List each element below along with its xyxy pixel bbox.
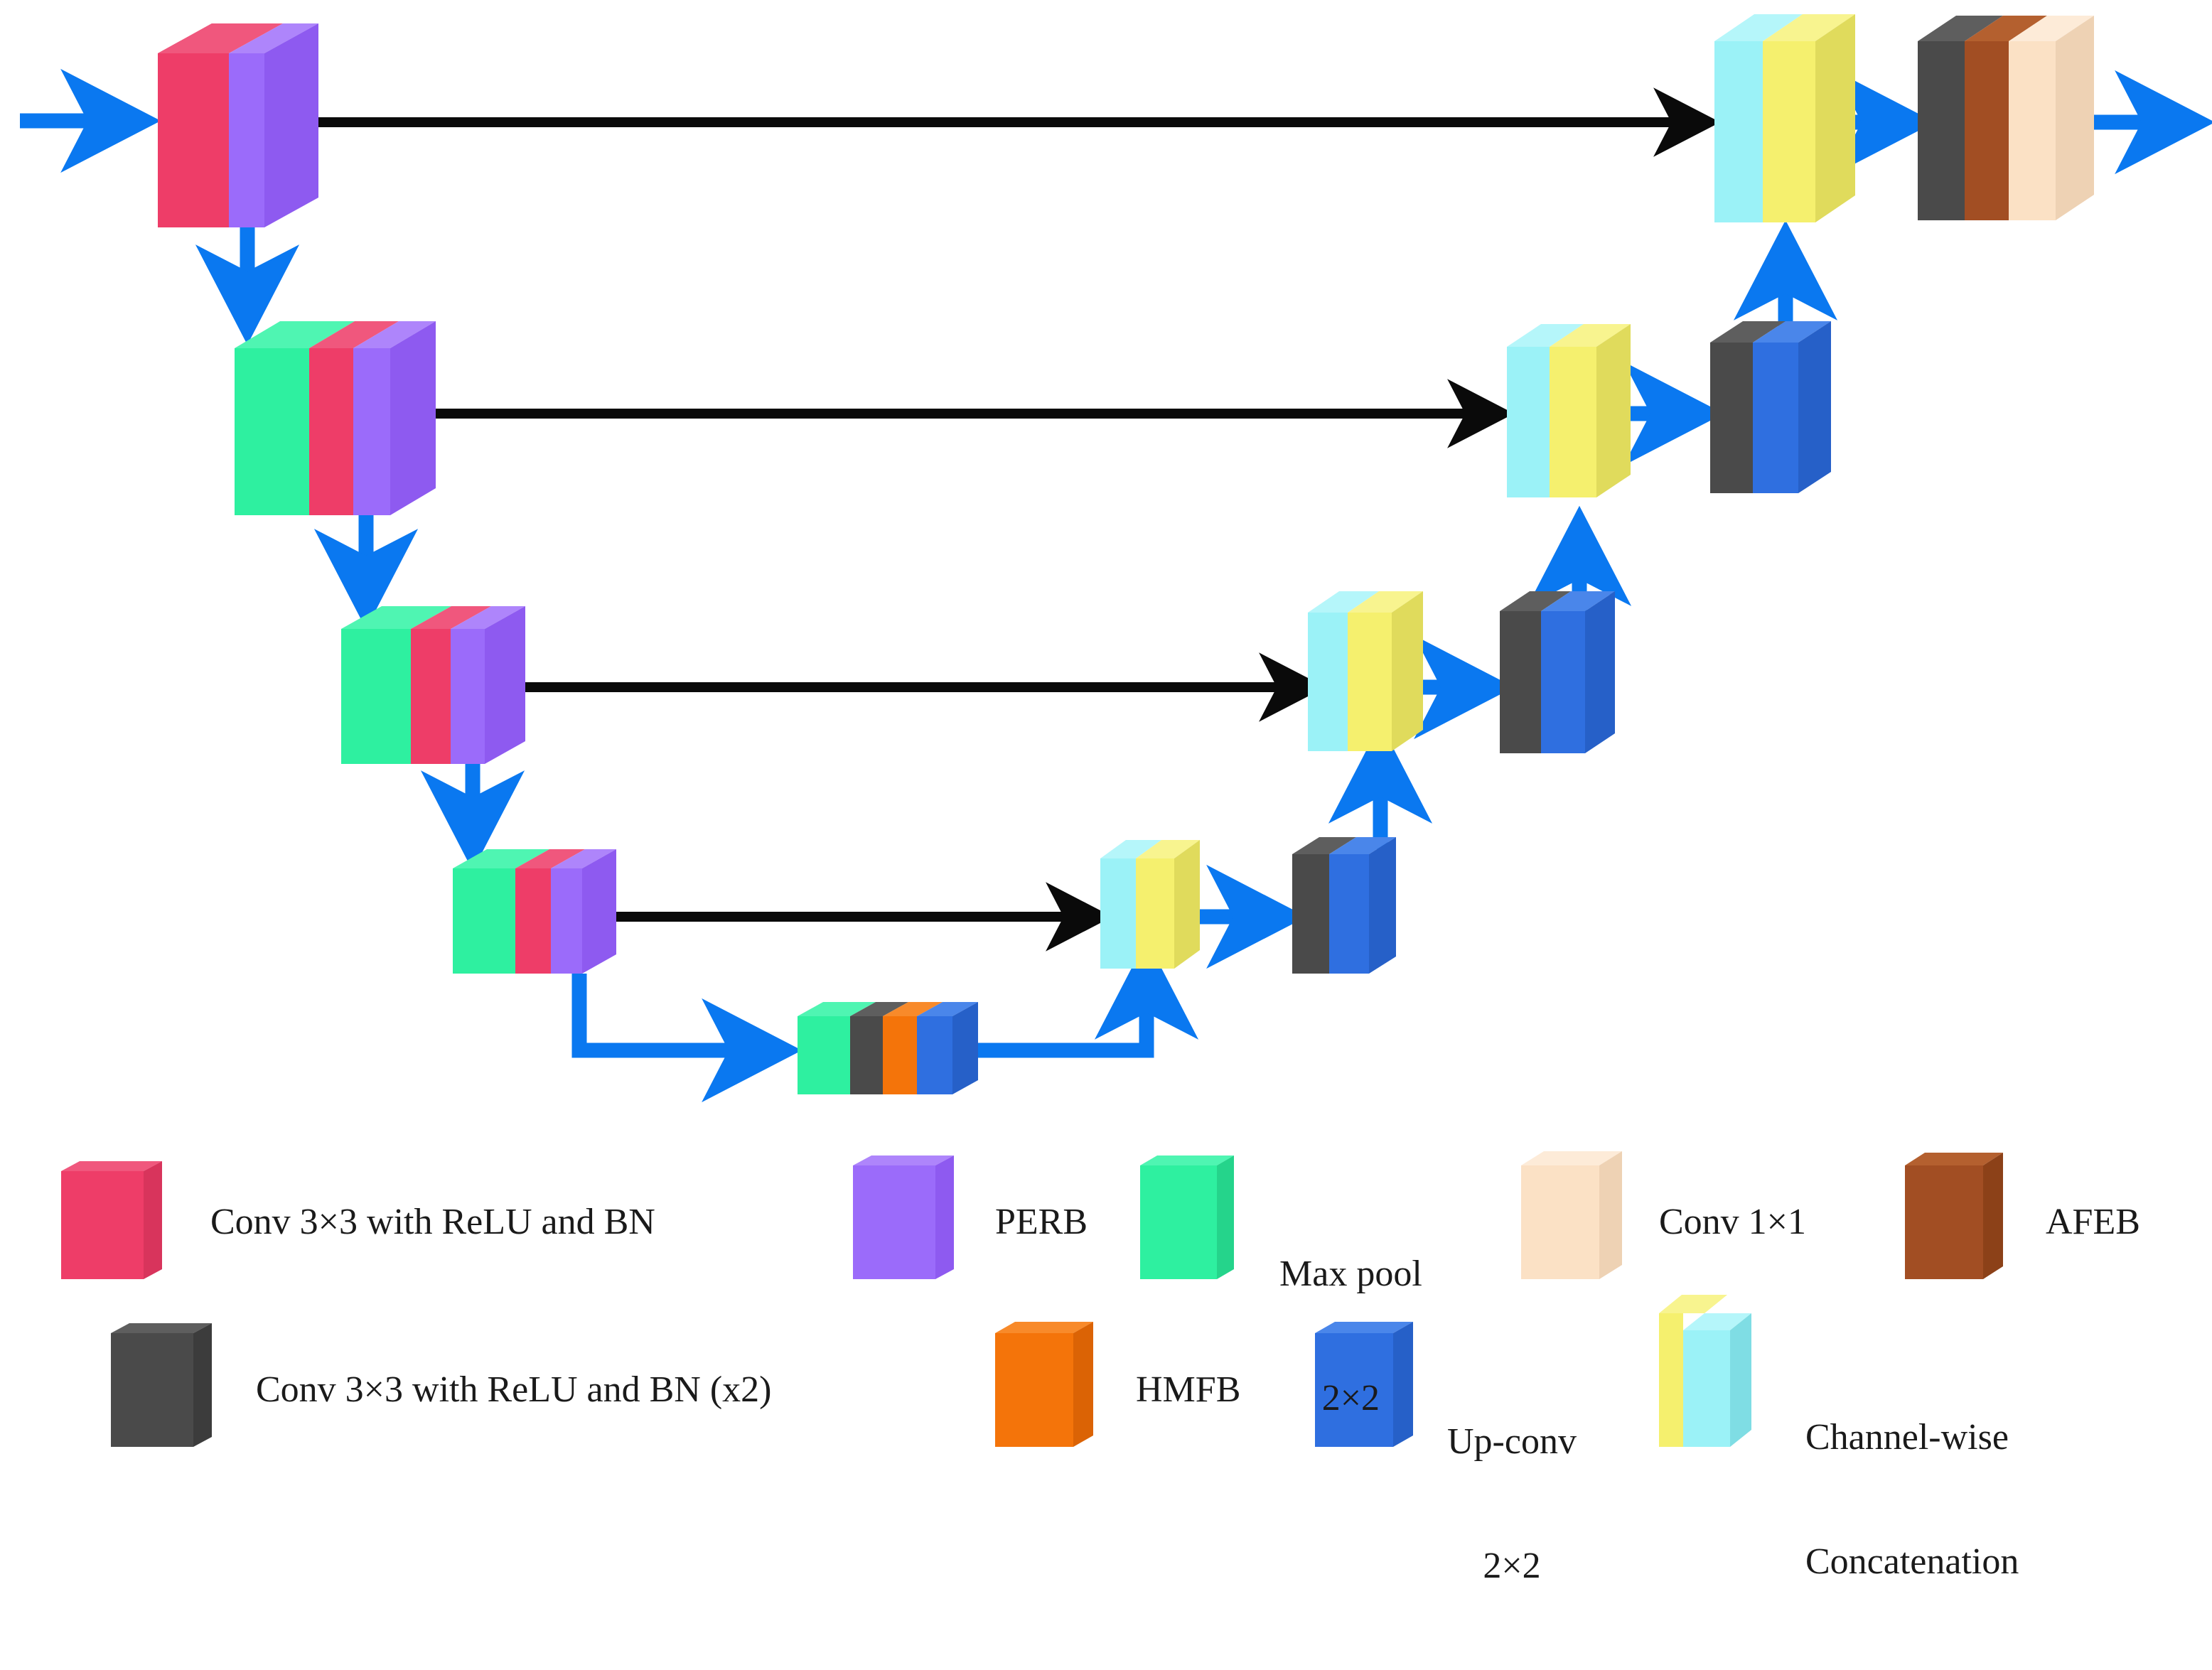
concat-level-1: [1714, 14, 1855, 222]
legend-swatch-perb-purple: [853, 1155, 954, 1279]
encoder-level-2: [235, 321, 436, 515]
legend-label-upconv-line2: 2×2: [1447, 1546, 1577, 1587]
encoder-level-1: [158, 23, 318, 227]
legend-label-upconv-line1: Up-conv: [1447, 1421, 1577, 1462]
decoder-level-2: [1710, 321, 1831, 493]
legend-swatch-hmfb-orange: [995, 1322, 1093, 1447]
encoder-level-3: [341, 606, 525, 764]
legend-label-concat: Channel-wise Concatenation: [1805, 1335, 2019, 1666]
encoder-level-4: [453, 849, 616, 974]
diagram-canvas: Conv 3×3 with ReLU and BN PERB Max pool …: [0, 0, 2212, 1448]
legend-label-conv-pink: Conv 3×3 with ReLU and BN: [210, 1202, 655, 1242]
legend-label-hmfb: HMFB: [1136, 1370, 1240, 1410]
legend-label-maxpool-line1: Max pool: [1279, 1254, 1422, 1295]
legend-swatch-afeb-brown: [1905, 1153, 2003, 1279]
legend-label-afeb: AFEB: [2046, 1202, 2140, 1242]
legend-label-concat-line1: Channel-wise: [1805, 1417, 2019, 1458]
legend-label-maxpool: Max pool 2×2: [1279, 1171, 1422, 1502]
legend-label-perb: PERB: [995, 1202, 1088, 1242]
output-head: [1918, 16, 2094, 220]
legend-label-concat-line2: Concatenation: [1805, 1541, 2019, 1583]
legend-label-upconv: Up-conv 2×2: [1447, 1339, 1577, 1670]
slab-perb-purple: [229, 23, 318, 227]
decoder-level-3: [1500, 591, 1615, 753]
legend-label-conv1x1: Conv 1×1: [1659, 1202, 1806, 1242]
decoder-level-4: [1292, 837, 1396, 974]
slab-conv-pink-front: [158, 53, 229, 227]
legend-swatch-conv-dark: [111, 1323, 212, 1447]
concat-level-2: [1507, 324, 1631, 497]
legend-label-conv-dark: Conv 3×3 with ReLU and BN (x2): [256, 1370, 772, 1410]
legend-swatch-maxpool-green: [1140, 1155, 1234, 1279]
legend-swatch-conv1x1-cream: [1521, 1151, 1622, 1279]
legend-swatch-conv-pink: [61, 1161, 162, 1279]
bottleneck: [798, 1002, 978, 1094]
legend-swatch-concat-pair: [1659, 1295, 1751, 1447]
concat-level-3: [1308, 591, 1423, 751]
concat-level-4: [1100, 840, 1200, 969]
legend-label-maxpool-line2: 2×2: [1279, 1378, 1422, 1419]
